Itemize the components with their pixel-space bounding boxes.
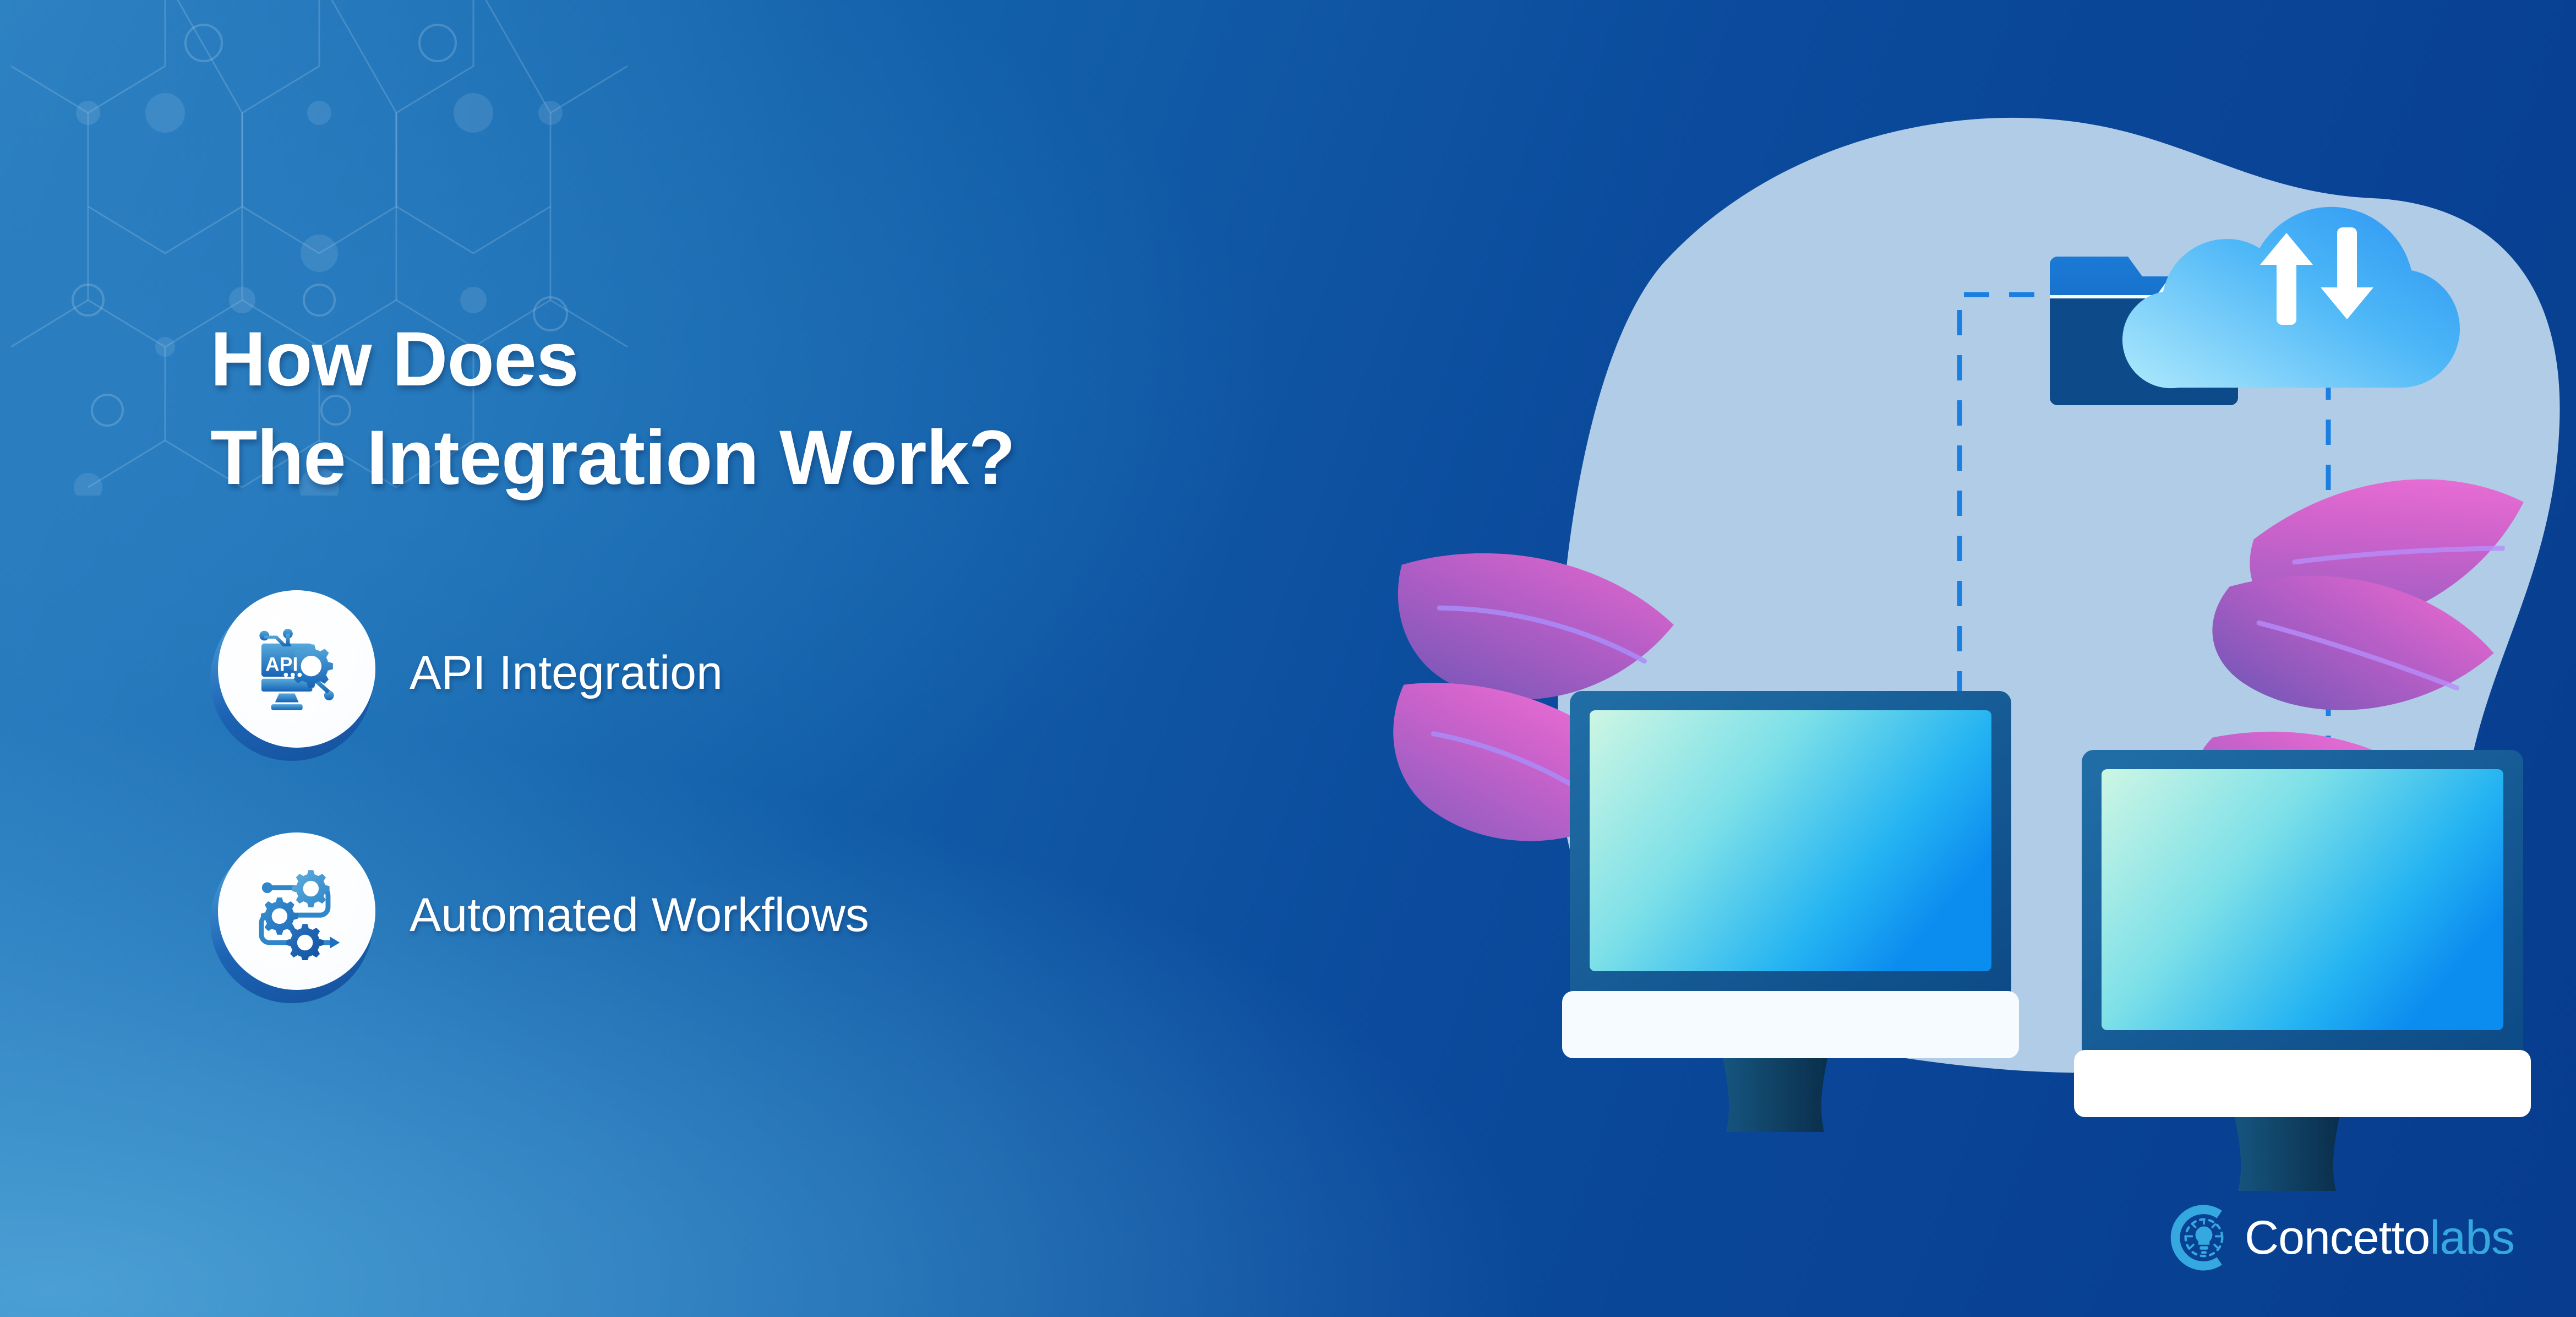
marketing-banner: How Does The Integration Work? — [0, 0, 2576, 1317]
badge-disc — [218, 832, 375, 990]
logo-word-primary: Concetto — [2245, 1211, 2430, 1264]
page-title: How Does The Integration Work? — [210, 309, 1311, 507]
feature-item-api-integration[interactable]: API API Integration — [210, 590, 723, 755]
workflow-gears-icon — [248, 862, 346, 960]
api-monitor-gear-icon: API — [248, 620, 346, 718]
badge-disc: API — [218, 590, 375, 748]
desktop-monitor-left — [1562, 691, 2019, 1132]
desktop-monitor-right — [2074, 750, 2531, 1191]
svg-text:API: API — [265, 654, 298, 676]
headline-line-2: The Integration Work? — [210, 408, 1311, 507]
headline-line-1: How Does — [210, 309, 1311, 408]
brand-logo[interactable]: Concettolabs — [2169, 1202, 2514, 1273]
feature-item-automated-workflows[interactable]: Automated Workflows — [210, 832, 869, 998]
feature-icon-badge: API — [210, 590, 375, 755]
feature-label: API Integration — [410, 646, 723, 700]
feature-icon-badge — [210, 832, 375, 998]
integration-illustration — [1282, 83, 2576, 1211]
logo-word-secondary: labs — [2430, 1211, 2514, 1264]
feature-label: Automated Workflows — [410, 888, 869, 943]
circular-c-bulb-icon — [2169, 1202, 2239, 1273]
